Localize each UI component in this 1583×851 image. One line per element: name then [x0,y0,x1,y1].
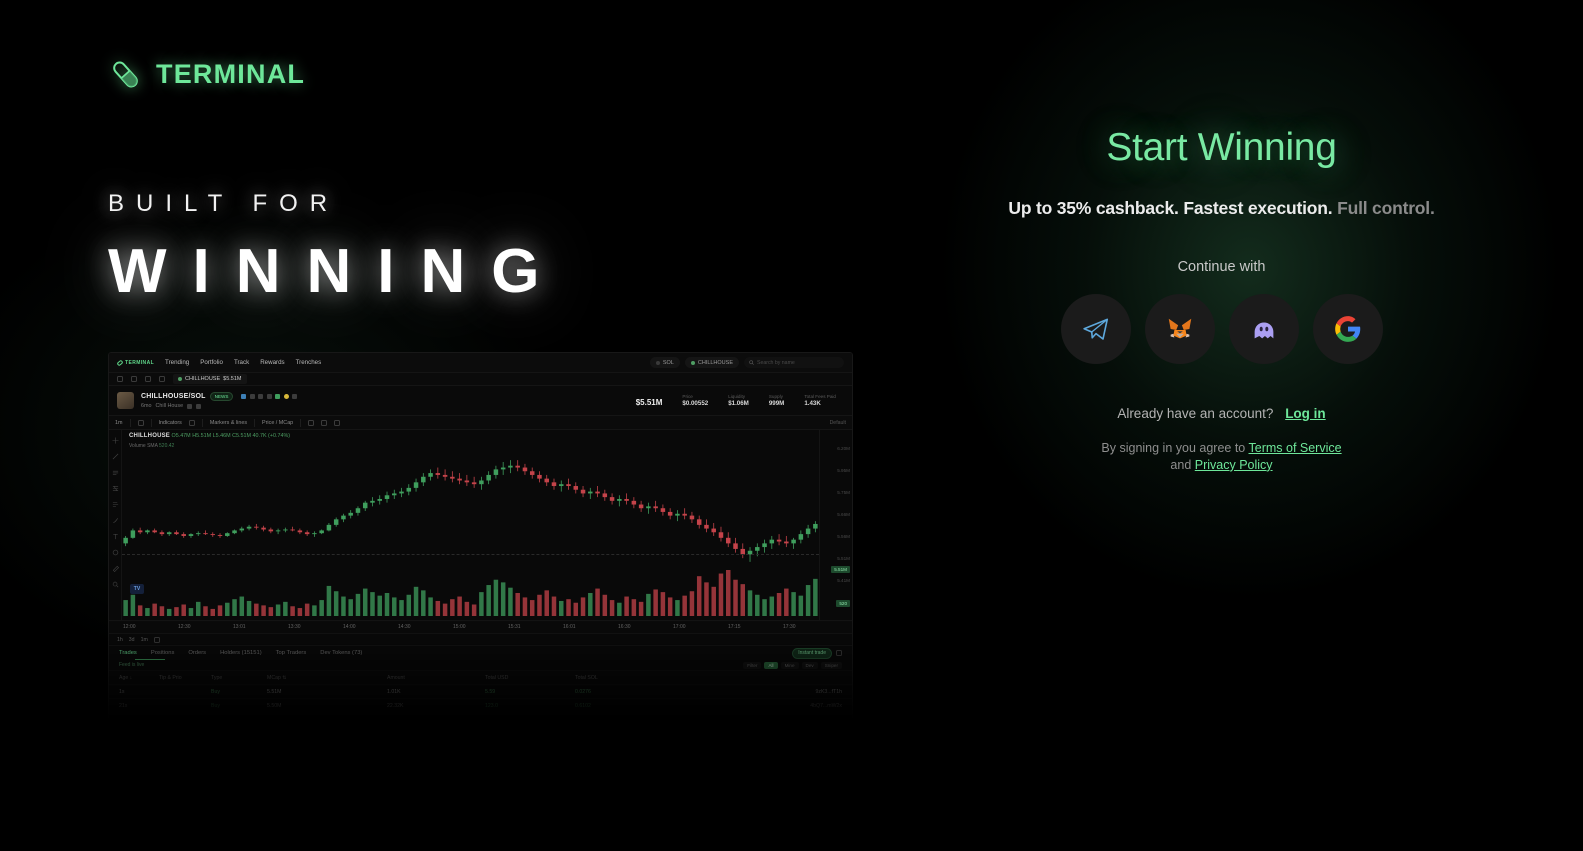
time-axis: 12:0012:3013:0113:3014:0014:3015:0015:31… [109,620,852,633]
tab-token-mcap: $5.51M [223,376,241,382]
google-g-icon [1334,315,1362,343]
price-axis[interactable]: 6.20M5.95M5.75M5.66M5.56M5.51M5.41M5.51M… [819,430,852,620]
chart-toolbar: 1m Indicators Markers & lines Price / MC… [109,416,852,430]
cell-type: Buy [211,703,267,709]
time-axis-label: 13:01 [233,624,246,630]
price-axis-label: 5.95M [837,468,850,473]
filter-pill-group: FilterAllMineDevSniper [743,662,842,669]
col-mcap[interactable]: MCap ⇅ [267,675,387,681]
time-axis-label: 16:30 [618,624,631,630]
stat-price: Price $0.00552 [682,394,708,408]
stat-fees-value: 1.43K [804,400,836,407]
nav-item-portfolio[interactable]: Portfolio [200,359,223,366]
metamask-fox-icon [1165,314,1195,344]
divider [151,419,152,427]
cell-amount: 22.32K [387,703,485,709]
login-prompt: Already have an account? Log in [860,406,1583,421]
time-axis-label: 14:30 [398,624,411,630]
cell-maker[interactable]: 4bQ7...mW2x [695,703,842,709]
search-input[interactable]: Search by name [744,357,844,368]
table-row[interactable]: 1s Buy 5.51M 1.01K 5.59 0.0276 9zK3...fT… [109,684,852,698]
hero-line-1: BUILT FOR [108,190,566,218]
cell-usd: 123.0 [485,703,575,709]
star-icon[interactable] [284,394,289,399]
volume-sma-legend: Volume SMA 520.42 [129,443,174,449]
brand-logo[interactable]: TERMINAL [108,57,305,92]
trend-line-icon[interactable] [112,453,119,460]
time-axis-label: 12:30 [178,624,191,630]
interval-selector[interactable]: 1m [115,420,123,426]
legend-high: H5.51M [192,433,211,439]
stat-supply: Supply 999M [769,394,784,408]
time-axis-label: 15:31 [508,624,521,630]
tradingview-logo[interactable]: TV [130,584,144,594]
table-header-row: Age ↓ Tip & Prio Type MCap ⇅ Amount Tota… [109,670,852,684]
stat-price-value: $0.00552 [682,400,708,407]
settings-gear-icon[interactable] [836,650,842,656]
legend-close: C5.51M [232,433,251,439]
cell-usd: 5.59 [485,689,575,695]
stat-price-label: Price [682,394,708,399]
markers-lines-button[interactable]: Markers & lines [210,420,247,426]
sol-icon [656,361,660,365]
time-axis-label: 13:30 [288,624,301,630]
col-tip-prio: Tip & Prio [159,675,211,681]
cell-mcap: 5.51M [267,689,387,695]
legal-prefix: By signing in you agree to [1101,441,1245,455]
calendar-icon[interactable] [154,637,160,643]
bell-icon[interactable] [292,394,297,399]
cell-sol: 0.6102 [575,703,695,709]
auth-subtitle-dim: Full control. [1337,198,1435,218]
shield-icon[interactable] [275,394,280,399]
terms-of-service-link[interactable]: Terms of Service [1249,441,1342,455]
tab-dev-tokens[interactable]: Dev Tokens (73) [320,650,362,656]
price-axis-label: 6.20M [837,446,850,451]
auth-title: Start Winning [860,126,1583,170]
brush-icon[interactable] [112,517,119,524]
filter-pill-filter[interactable]: Filter [743,662,761,669]
divider [300,419,301,427]
token-avatar-icon [691,361,695,365]
eraser-icon[interactable] [112,565,119,572]
price-axis-label: 5.41M [837,578,850,583]
volume-sma-value: 520.42 [159,443,174,449]
info-icon[interactable] [250,394,255,399]
candlestick-series [122,430,819,620]
legend-symbol: CHILLHOUSE [129,433,170,439]
cell-age: 21s [119,703,159,709]
nav-item-trending[interactable]: Trending [165,359,189,366]
stat-liquidity-label: Liquidity [728,394,749,399]
app-tabstrip: CHILLHOUSE $5.51M [109,373,852,386]
token-avatar [117,392,134,409]
news-badge[interactable]: NEWS [210,392,234,401]
col-age[interactable]: Age ↓ [119,675,159,681]
app-logo-label: TERMINAL [125,360,154,366]
filter-pill-all[interactable]: All [764,662,777,669]
candlestick-icon[interactable] [138,420,144,426]
time-axis-label: 16:01 [563,624,576,630]
price-mcap-toggle[interactable]: Price / MCap [262,420,293,426]
token-pair: CHILLHOUSE/SOL [141,393,206,400]
grid-icon[interactable] [189,420,195,426]
tab-positions[interactable]: Positions [151,650,175,656]
token-fullname: Chill House [156,403,184,409]
divider [130,419,131,427]
cell-maker[interactable]: 9zK3...fT1h [695,689,842,695]
filter-pill-mine[interactable]: Mine [781,662,799,669]
search-placeholder: Search by name [757,360,795,366]
price-axis-label: 5.75M [837,490,850,495]
text-icon[interactable] [112,533,119,540]
divider [202,419,203,427]
stat-supply-label: Supply [769,394,784,399]
tab-top-traders[interactable]: Top Traders [276,650,307,656]
stat-fees: Total Fees Paid 1.43K [804,394,836,408]
legal-text: By signing in you agree to Terms of Serv… [860,440,1583,474]
cell-mcap: 5.50M [267,703,387,709]
auth-provider-list [860,294,1583,364]
price-axis-label: 5.56M [837,534,850,539]
col-total-sol: Total SOL [575,675,695,681]
tab-token-name: CHILLHOUSE [185,376,220,382]
stat-liquidity-value: $1.06M [728,400,749,407]
auth-button-phantom[interactable] [1229,294,1299,364]
share-icon[interactable] [196,404,201,409]
chart-icon[interactable] [131,376,137,382]
auth-subtitle: Up to 35% cashback. Fastest execution. F… [860,198,1583,219]
star-icon[interactable] [145,376,151,382]
auth-subtitle-strong: Up to 35% cashback. Fastest execution. [1008,198,1332,218]
history-icon[interactable] [117,376,123,382]
hero-headline: BUILT FOR WINNING [108,190,566,303]
login-link[interactable]: Log in [1285,406,1326,421]
brand-name: TERMINAL [156,59,305,90]
legend-open: O5.47M [172,433,191,439]
cell-type: Buy [211,689,267,695]
price-axis-badge: 5.51M [831,566,850,573]
hero-line-2: WINNING [108,241,566,303]
search-icon [749,360,754,365]
token-badge-label: CHILLHOUSE [698,360,733,366]
pill-capsule-icon [116,359,123,366]
filter-pill-sniper[interactable]: Sniper [821,662,842,669]
nav-item-trenches[interactable]: Trenches [296,359,322,366]
token-stats: $5.51M Price $0.00552 Liquidity $1.06M S… [636,394,844,408]
privacy-policy-link[interactable]: Privacy Policy [1195,458,1273,472]
copy-icon[interactable] [187,404,192,409]
stat-liquidity: Liquidity $1.06M [728,394,749,408]
tab-orders[interactable]: Orders [188,650,206,656]
time-axis-label: 17:30 [783,624,796,630]
chain-badge-label: SOL [663,360,674,366]
timeframe-1h[interactable]: 1h [117,637,123,643]
legend-change: 40.7K (+0.74%) [252,433,290,439]
undo-icon[interactable] [321,420,327,426]
auth-button-telegram[interactable] [1061,294,1131,364]
fib-retracement-icon[interactable] [112,485,119,492]
chart-preset-label[interactable]: Default [830,420,846,426]
timeframe-1m[interactable]: 1m [141,637,148,643]
chart-area: CHILLHOUSE O5.47M H5.51M L5.46M C5.51M 4… [109,430,852,620]
price-reference-line [122,554,819,555]
timeframe-row: 1h 3d 1m [109,633,852,645]
time-axis-label: 15:00 [453,624,466,630]
tab-holders[interactable]: Holders (15151) [220,650,262,656]
time-axis-label: 12:00 [123,624,136,630]
token-mcap-value: $5.51M [636,398,663,407]
holders-icon[interactable] [241,394,246,399]
tab-trades[interactable]: Trades [119,650,137,656]
price-axis-label: 5.51M [837,556,850,561]
auth-button-google[interactable] [1313,294,1383,364]
time-axis-label: 17:00 [673,624,686,630]
redo-icon[interactable] [334,420,340,426]
cell-sol: 0.0276 [575,689,695,695]
feed-status-label: Feed is live [119,662,144,668]
instant-trade-button[interactable]: Instant trade [792,648,832,659]
price-axis-label: 5.66M [837,512,850,517]
chart-plot[interactable]: CHILLHOUSE O5.47M H5.51M L5.46M C5.51M 4… [122,430,819,620]
pill-capsule-icon [108,57,143,92]
bottom-tabs: Trades Positions Orders Holders (15151) … [109,645,852,660]
zoom-icon[interactable] [112,581,119,588]
legend-low: L5.46M [213,433,231,439]
stat-supply-value: 999M [769,400,784,407]
price-axis-badge: 520 [836,600,850,607]
timeframe-3d[interactable]: 3d [129,637,135,643]
have-account-text: Already have an account? [1117,406,1273,421]
col-type: Type [211,675,267,681]
volume-sma-label: Volume SMA [129,443,158,449]
app-logo[interactable]: TERMINAL [117,360,154,366]
cell-amount: 1.01K [387,689,485,695]
horizontal-lines-icon[interactable] [112,469,119,476]
continue-with-label: Continue with [860,259,1583,275]
telegram-paper-plane-icon [1081,314,1111,344]
token-header: CHILLHOUSE/SOL NEWS 6mo Chill House [109,386,852,416]
token-badge-chillhouse[interactable]: CHILLHOUSE [685,357,739,368]
fullscreen-icon[interactable] [308,420,314,426]
feed-status-row: Feed is live FilterAllMineDevSniper [109,660,852,670]
link-icon[interactable] [267,394,272,399]
auth-panel: Start Winning Up to 35% cashback. Fastes… [860,0,1583,851]
stat-fees-label: Total Fees Paid [804,394,836,399]
time-axis-label: 14:00 [343,624,356,630]
app-preview-screenshot: TERMINAL Trending Portfolio Track Reward… [108,352,853,720]
phantom-ghost-icon [1249,314,1279,344]
tab-chillhouse[interactable]: CHILLHOUSE $5.51M [173,374,247,384]
app-topnav: TERMINAL Trending Portfolio Track Reward… [109,353,852,373]
table-row[interactable]: 21s Buy 5.50M 22.32K 123.0 0.6102 4bQ7..… [109,698,852,712]
nav-item-track[interactable]: Track [234,359,249,366]
col-total-usd: Total USD [485,675,575,681]
token-avatar-icon [178,377,182,381]
chart-legend: CHILLHOUSE O5.47M H5.51M L5.46M C5.51M 4… [129,433,290,439]
indicators-button[interactable]: Indicators [159,420,182,426]
filter-pill-dev[interactable]: Dev [802,662,818,669]
search-icon[interactable] [258,394,263,399]
shapes-icon[interactable] [112,549,119,556]
measure-icon[interactable] [112,501,119,508]
chart-drawing-tools [109,430,122,620]
chain-badge-sol[interactable]: SOL [650,357,680,368]
token-age: 6mo [141,403,152,409]
auth-button-metamask[interactable] [1145,294,1215,364]
trades-table: Age ↓ Tip & Prio Type MCap ⇅ Amount Tota… [109,670,852,712]
clock-icon[interactable] [159,376,165,382]
legal-and: and [1170,458,1191,472]
nav-item-rewards[interactable]: Rewards [260,359,284,366]
cell-age: 1s [119,689,159,695]
time-axis-label: 17:15 [728,624,741,630]
divider [254,419,255,427]
crosshair-icon[interactable] [112,437,119,444]
col-amount: Amount [387,675,485,681]
